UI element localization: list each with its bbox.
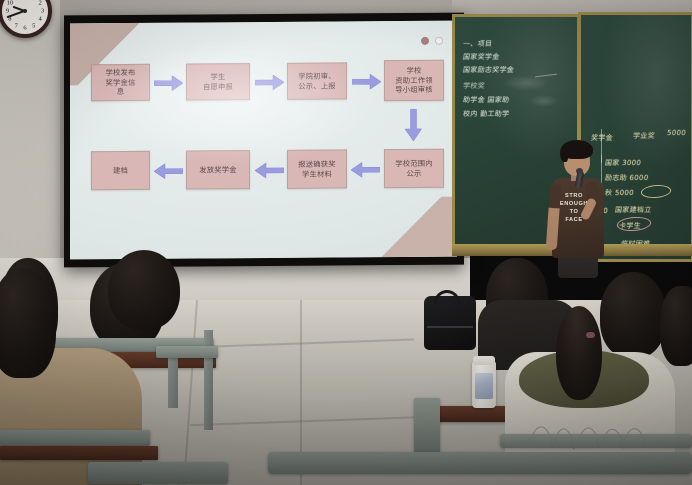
presenter-hair-side (560, 146, 568, 162)
clock-numeral: 10 (7, 0, 14, 6)
projected-slide: 学校发布 奖学金信 息 学生 自愿申报 学院初审、 (70, 21, 457, 260)
flow-box-line: 资助工作领 (395, 76, 432, 86)
flow-box-line: 学校 (395, 66, 432, 76)
flow-box-line: 息 (106, 87, 136, 97)
classroom-scene: 12 1 2 3 4 5 6 7 8 9 10 11 (0, 0, 692, 485)
hair-tie (586, 332, 595, 338)
flow-box-line: 报送确获奖 (298, 159, 335, 169)
flow-box-line: 学院初审、 (298, 71, 335, 81)
projection-screen: 学校发布 奖学金信 息 学生 自愿申报 学院初审、 (64, 13, 464, 268)
chalk-text-line: 国家奖学金 (462, 52, 500, 62)
chalk-text-line: 学校奖 (462, 81, 485, 91)
bench-foreground-left (88, 462, 228, 484)
thermos-lid (473, 356, 495, 365)
flow-box-line: 学生 (203, 72, 233, 82)
flow-box-line: 学生材料 (298, 169, 335, 179)
clock-numeral: 2 (39, 0, 42, 6)
bench-foreground-bar-upper (500, 434, 692, 448)
chalk-smudge (503, 75, 549, 91)
flow-arrow-left-3 (154, 164, 183, 179)
backpack-flap-seam (427, 326, 473, 328)
slide-dot-hollow (435, 37, 443, 45)
flow-box-submit-awardee-materials: 报送确获奖 学生材料 (287, 149, 347, 188)
flow-arrow-left-2 (255, 163, 284, 178)
flow-box-disburse-scholarship: 发放奖学金 (186, 150, 250, 189)
student-head-center (108, 250, 180, 330)
chalk-text-line: 学业奖 (632, 131, 655, 141)
thermos-label-art (475, 373, 493, 399)
bench-foreground-bar (268, 452, 692, 474)
desk-leg (204, 330, 213, 430)
chalk-text-line: 助学金 国家助 (462, 95, 510, 105)
clock-numeral: 3 (41, 8, 44, 15)
student-ponytail-foreground (556, 306, 602, 400)
flow-box-line: 自愿申报 (203, 82, 233, 92)
flow-box-line: 学校范围内 (395, 159, 432, 169)
flow-arrow-down (405, 109, 422, 141)
shirt-text-line: STRO (558, 193, 590, 201)
flow-arrow-left-1 (351, 162, 380, 177)
student-head-far-right (600, 272, 666, 358)
flow-box-college-review: 学院初审、 公示、上报 (287, 62, 347, 99)
chalk-text-line: 校内 勤工助学 (462, 109, 510, 119)
slide-corner-accent-bottomright (365, 197, 457, 258)
thermos-bottle (472, 361, 496, 408)
desk-surface-left (0, 446, 158, 460)
bench-side-right (414, 398, 440, 458)
floor-tile-seam (190, 416, 430, 426)
bench-mid (156, 346, 218, 358)
flow-box-line: 建档 (113, 166, 128, 176)
student-head-edge-right (660, 286, 692, 366)
clock-numeral: 4 (39, 16, 42, 23)
microphone-head (576, 168, 583, 174)
bench-front-left (0, 430, 150, 446)
slide-dot-filled (421, 37, 429, 45)
slide-decor-dots (421, 37, 443, 45)
clock-numeral: 9 (6, 8, 9, 15)
flow-box-campus-wide-publicity: 学校范围内 公示 (384, 149, 444, 188)
chalk-text-line: 国家建档立 (614, 205, 652, 215)
flow-box-line: 公示、上报 (298, 81, 335, 91)
presenter: STRO ENOUGH TO FACE (548, 138, 618, 273)
chalk-text-line: 5000 (667, 129, 687, 137)
desk-leg (168, 352, 178, 408)
backpack (424, 296, 476, 350)
flow-box-student-applies: 学生 自愿申报 (186, 63, 250, 100)
flow-box-archive: 建档 (91, 151, 150, 190)
flow-box-line: 学校发布 (106, 68, 136, 78)
clock-numeral: 5 (32, 22, 35, 29)
flow-arrow-right-1 (154, 76, 183, 91)
flow-arrow-right-3 (352, 74, 381, 89)
chalk-text-line: 一、项目 (462, 39, 492, 49)
chalk-text-line: 国家励志奖学金 (462, 65, 514, 75)
clock-center-pin (23, 9, 27, 13)
clock-numeral: 7 (15, 22, 18, 29)
flow-box-school-committee-review: 学校 资助工作领 导小组审核 (384, 60, 444, 101)
clock-face: 12 1 2 3 4 5 6 7 8 9 10 11 (2, 0, 48, 34)
floor-tile-seam (214, 339, 414, 347)
flow-box-line: 奖学金信 (106, 78, 136, 88)
floor-tile-seam (183, 300, 197, 485)
flow-box-school-publishes: 学校发布 奖学金信 息 (91, 64, 150, 101)
flow-arrow-right-2 (255, 75, 284, 90)
clock-numeral: 6 (23, 25, 26, 32)
flow-box-line: 导小组审核 (395, 85, 432, 95)
flow-box-line: 公示 (395, 168, 432, 178)
chalk-smudge (529, 95, 559, 107)
flow-box-line: 发放奖学金 (199, 165, 236, 175)
